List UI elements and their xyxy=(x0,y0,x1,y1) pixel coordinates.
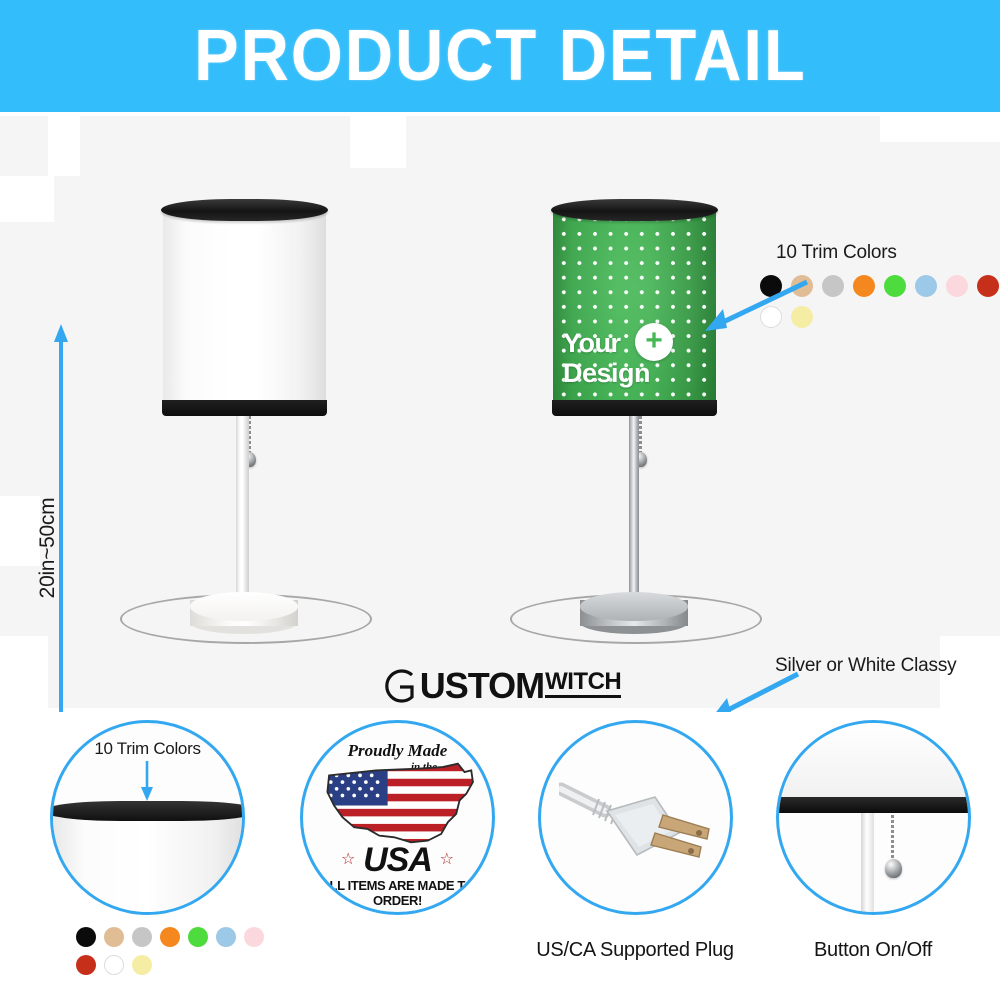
trim-swatch-tan[interactable] xyxy=(104,927,124,947)
trim-swatch-red[interactable] xyxy=(977,275,999,297)
trim-swatch-orange[interactable] xyxy=(853,275,875,297)
usa-badge: Proudly Made in the xyxy=(303,723,492,912)
trim-down-arrow-icon xyxy=(139,761,155,801)
trim-colors-title: 10 Trim Colors xyxy=(760,242,1000,264)
bg-patch xyxy=(0,176,54,222)
bg-patch xyxy=(880,116,1000,142)
trim-swatch-light-blue[interactable] xyxy=(216,927,236,947)
pull-chain-ball-detail[interactable] xyxy=(885,859,902,878)
trim-swatch-gray[interactable] xyxy=(822,275,844,297)
bg-patch xyxy=(48,116,80,176)
plug-circle xyxy=(538,720,733,915)
page-title: PRODUCT DETAIL xyxy=(194,20,807,92)
mini-shade-surface xyxy=(50,811,245,915)
panel-button: Button On/Off xyxy=(748,712,998,1000)
panel-trim-colors-label: 10 Trim Colors xyxy=(53,739,242,759)
trim-swatch-white[interactable] xyxy=(104,955,124,975)
brand-name-main: USTOM xyxy=(420,668,544,704)
pull-chain-detail[interactable] xyxy=(891,815,894,863)
trim-colors-pointer-arrow xyxy=(695,276,815,338)
panel-made-in-usa: Proudly Made in the xyxy=(272,712,522,1000)
silver-lamp-pole xyxy=(629,416,639,611)
bg-patch xyxy=(0,496,40,566)
trim-swatch-green[interactable] xyxy=(884,275,906,297)
trim-swatch-yellow[interactable] xyxy=(132,955,152,975)
panel-plug: US/CA Supported Plug xyxy=(510,712,760,1000)
shade-top-trim xyxy=(551,199,718,221)
trim-swatch-pink[interactable] xyxy=(946,275,968,297)
main-product-area: 7in~18cm 20in~50cm xyxy=(0,116,1000,708)
silver-lamp-base xyxy=(580,592,688,634)
trim-swatch-green[interactable] xyxy=(188,927,208,947)
brand-logo: USTOM WITCH xyxy=(0,662,1000,710)
white-lamp-base xyxy=(190,592,298,634)
shade-surface xyxy=(163,208,326,406)
trim-swatch-pink[interactable] xyxy=(244,927,264,947)
design-line-2: Design xyxy=(563,358,706,388)
trim-swatch-black[interactable] xyxy=(76,927,96,947)
white-lamp-shade xyxy=(163,199,326,412)
bg-patch xyxy=(350,116,406,168)
pull-chain[interactable] xyxy=(639,416,642,454)
lamp-pole-detail xyxy=(861,813,874,915)
mini-shade-trim xyxy=(50,801,245,821)
green-lamp-shade: Your Design + xyxy=(553,199,716,412)
usa-flag-map-icon xyxy=(317,757,485,849)
brand-name-sub: WITCH xyxy=(545,670,621,698)
button-onoff-circle xyxy=(776,720,971,915)
shade-detail-surface xyxy=(776,723,971,803)
white-lamp-pole xyxy=(236,416,249,611)
usa-word: USA xyxy=(303,841,492,880)
trim-colors-circle: 10 Trim Colors xyxy=(50,720,245,915)
plus-icon[interactable]: + xyxy=(635,323,673,361)
header-banner: PRODUCT DETAIL xyxy=(0,0,1000,112)
power-plug-icon xyxy=(559,771,719,871)
brand-c-icon xyxy=(379,666,419,706)
panel-button-caption: Button On/Off xyxy=(748,939,998,962)
trim-swatch-red[interactable] xyxy=(76,955,96,975)
feature-panels: 10 Trim Colors Proudly Made in the xyxy=(0,712,1000,1000)
shade-surface: Your Design + xyxy=(553,208,716,406)
shade-top-trim xyxy=(161,199,328,221)
usa-star-right-icon: ☆ xyxy=(440,849,454,869)
product-detail-infographic: PRODUCT DETAIL 7in~18cm 20in~50cm xyxy=(0,0,1000,1000)
trim-swatch-gray[interactable] xyxy=(132,927,152,947)
usa-footer-text: ALL ITEMS ARE MADE TO ORDER! xyxy=(303,878,492,908)
trim-swatch-orange[interactable] xyxy=(160,927,180,947)
trim-swatch-light-blue[interactable] xyxy=(915,275,937,297)
panel-plug-caption: US/CA Supported Plug xyxy=(510,939,760,962)
panel-trim-colors: 10 Trim Colors xyxy=(22,712,272,1000)
shade-bottom-trim xyxy=(162,400,327,416)
made-in-usa-circle: Proudly Made in the xyxy=(300,720,495,915)
bottom-trim-swatches xyxy=(76,927,276,975)
shade-detail-trim xyxy=(776,797,971,813)
trim-color-swatch-row xyxy=(76,927,286,975)
shade-bottom-trim xyxy=(552,400,717,416)
